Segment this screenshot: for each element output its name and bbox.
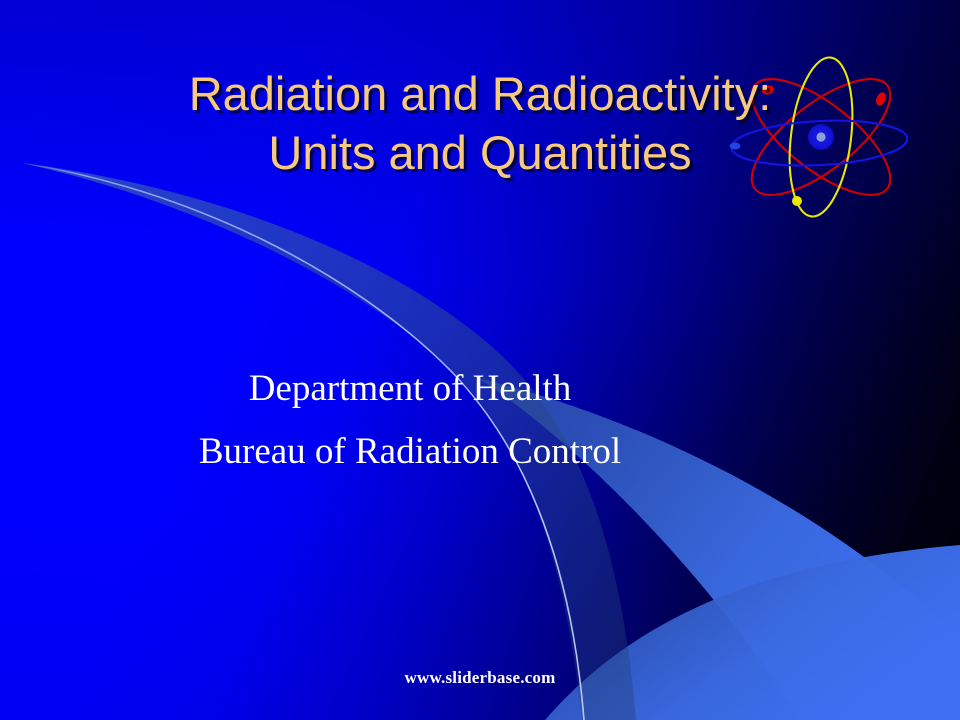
slide-footer-url: www.sliderbase.com [0,668,960,688]
subtitle-line-2: Bureau of Radiation Control [0,433,820,470]
title-line-1: Radiation and Radioactivity: [0,70,960,117]
title-line-2: Units and Quantities [0,129,960,176]
slide-subtitle: Department of Health Bureau of Radiation… [0,370,820,470]
presentation-slide: Radiation and Radioactivity: Units and Q… [0,0,960,720]
subtitle-line-1: Department of Health [0,370,820,407]
electron-yellow-lower-left [792,196,802,206]
slide-title: Radiation and Radioactivity: Units and Q… [0,70,960,176]
